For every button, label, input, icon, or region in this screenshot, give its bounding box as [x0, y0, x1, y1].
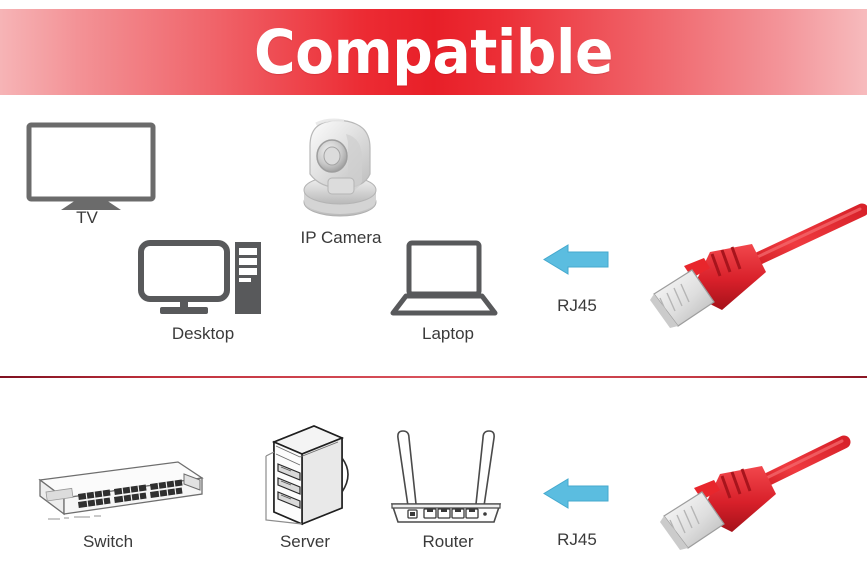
device-label-ip-camera: IP Camera — [301, 228, 382, 248]
device-label-desktop: Desktop — [172, 324, 234, 344]
device-ip-camera: IP Camera — [288, 116, 408, 251]
section-divider — [0, 376, 867, 378]
device-label-switch: Switch — [83, 532, 133, 552]
connector-label-rj45-bottom: RJ45 — [557, 530, 597, 550]
device-desktop: Desktop — [138, 240, 278, 345]
device-router: Router — [386, 424, 511, 560]
desktop-icon — [138, 240, 263, 318]
rj45-cable-icon — [648, 208, 867, 333]
server-rack-icon — [256, 420, 350, 528]
connector-rj45-top: RJ45 — [520, 240, 630, 330]
device-label-router: Router — [422, 532, 473, 552]
compatibility-infographic: Compatible TV — [0, 0, 867, 565]
network-switch-icon — [18, 450, 204, 528]
device-tv: TV — [26, 122, 206, 232]
device-label-server: Server — [280, 532, 330, 552]
arrow-left-icon — [542, 478, 610, 512]
device-label-tv: TV — [76, 208, 98, 228]
connector-label-rj45-top: RJ45 — [557, 296, 597, 316]
arrow-left-icon — [542, 244, 610, 278]
connector-rj45-bottom: RJ45 — [520, 474, 630, 564]
rj45-patch-cable-bottom — [648, 420, 867, 565]
rj45-patch-cable-top — [648, 208, 867, 333]
laptop-icon — [392, 240, 497, 318]
device-laptop: Laptop — [392, 240, 512, 345]
tv-icon — [26, 122, 156, 212]
wifi-router-icon — [386, 424, 506, 528]
page-title: Compatible — [30, 9, 836, 95]
ip-camera-icon — [288, 116, 392, 224]
device-server: Server — [256, 420, 356, 560]
device-label-laptop: Laptop — [422, 324, 474, 344]
rj45-cable-icon — [648, 420, 867, 565]
device-switch: Switch — [18, 450, 208, 560]
header-banner: Compatible — [0, 9, 867, 95]
